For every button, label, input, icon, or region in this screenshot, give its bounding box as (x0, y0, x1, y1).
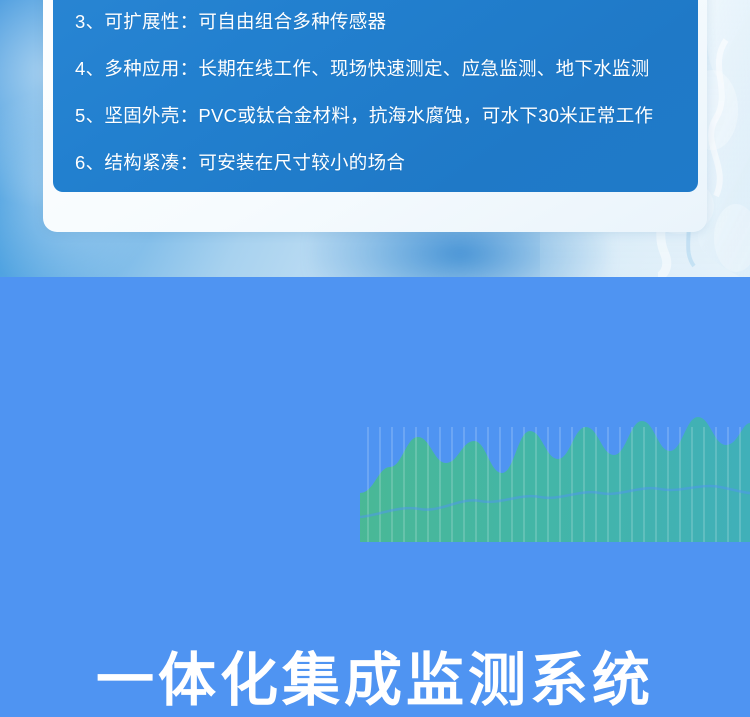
feature-item: 6、结构紧凑：可安装在尺寸较小的场合 (75, 151, 682, 175)
hero-title: 一体化集成监测系统 (0, 649, 750, 713)
features-blue-box: 3、可扩展性：可自由组合多种传感器 4、多种应用：长期在线工作、现场快速测定、应… (53, 0, 698, 192)
feature-item: 3、可扩展性：可自由组合多种传感器 (75, 10, 682, 34)
hero-section: 一体化集成监测系统 以浮标为载体，集材料科学、传感器技术、数传技术 为一体的水质… (0, 277, 750, 717)
feature-item: 4、多种应用：长期在线工作、现场快速测定、应急监测、地下水监测 (75, 57, 682, 81)
product-detail-page: 3、可扩展性：可自由组合多种传感器 4、多种应用：长期在线工作、现场快速测定、应… (0, 0, 750, 717)
green-audio-waveform-icon (360, 397, 750, 542)
feature-item: 5、坚固外壳：PVC或钛合金材料，抗海水腐蚀，可水下30米正常工作 (75, 104, 682, 128)
features-section: 3、可扩展性：可自由组合多种传感器 4、多种应用：长期在线工作、现场快速测定、应… (0, 0, 750, 277)
features-list: 3、可扩展性：可自由组合多种传感器 4、多种应用：长期在线工作、现场快速测定、应… (75, 10, 682, 198)
